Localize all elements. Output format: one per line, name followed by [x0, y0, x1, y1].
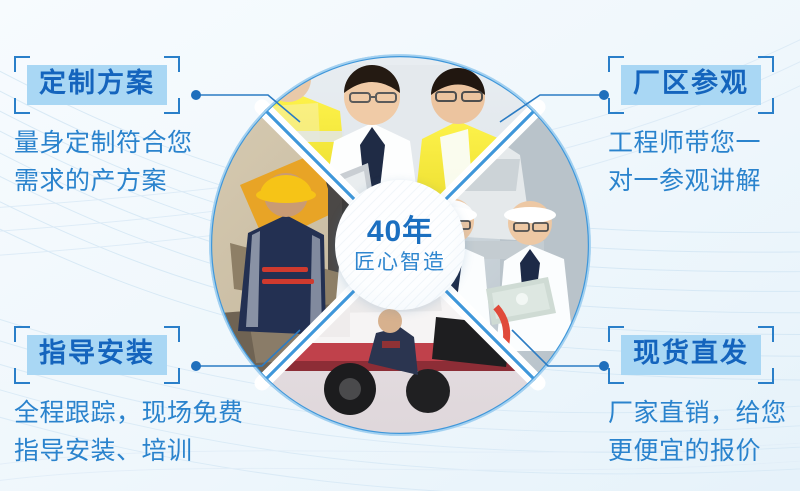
feature-title: 现货直发: [633, 338, 749, 368]
corner-bracket-icon: [608, 56, 624, 72]
corner-bracket-icon: [608, 368, 624, 384]
corner-bracket-icon: [14, 326, 30, 342]
feature-installation-guidance[interactable]: 指导安装 全程跟踪，现场免费 指导安装、培训: [14, 326, 244, 470]
feature-title: 定制方案: [39, 68, 155, 98]
corner-bracket-icon: [608, 98, 624, 114]
corner-bracket-icon: [164, 56, 180, 72]
feature-custom-solution[interactable]: 定制方案 量身定制符合您 需求的产方案: [14, 56, 193, 200]
feature-desc-line: 需求的产方案: [14, 162, 193, 200]
center-badge: 40年 匠心智造: [335, 180, 465, 310]
corner-bracket-icon: [164, 368, 180, 384]
corner-bracket-icon: [164, 98, 180, 114]
corner-bracket-icon: [758, 368, 774, 384]
corner-bracket-icon: [164, 326, 180, 342]
feature-title-frame: 现货直发: [608, 326, 774, 384]
feature-in-stock-shipping[interactable]: 现货直发 厂家直销，给您 更便宜的报价: [608, 326, 787, 470]
feature-desc-line: 指导安装、培训: [14, 432, 244, 470]
feature-description: 量身定制符合您 需求的产方案: [14, 124, 193, 200]
feature-title-frame: 定制方案: [14, 56, 180, 114]
feature-title-badge: 现货直发: [621, 335, 761, 375]
feature-description: 全程跟踪，现场免费 指导安装、培训: [14, 394, 244, 470]
feature-desc-line: 全程跟踪，现场免费: [14, 394, 244, 432]
feature-title-frame: 厂区参观: [608, 56, 774, 114]
corner-bracket-icon: [14, 56, 30, 72]
feature-desc-line: 量身定制符合您: [14, 124, 193, 162]
feature-title-badge: 指导安装: [27, 335, 167, 375]
feature-desc-line: 厂家直销，给您: [608, 394, 787, 432]
promo-banner: 40年 匠心智造 定制方案 量身定制符合您 需求的产方案 厂区参观: [0, 0, 800, 491]
feature-title: 厂区参观: [633, 68, 749, 98]
feature-title-badge: 定制方案: [27, 65, 167, 105]
corner-bracket-icon: [14, 98, 30, 114]
feature-desc-line: 更便宜的报价: [608, 432, 787, 470]
feature-title-badge: 厂区参观: [621, 65, 761, 105]
corner-bracket-icon: [608, 326, 624, 342]
feature-desc-line: 对一参观讲解: [608, 162, 774, 200]
feature-title-frame: 指导安装: [14, 326, 180, 384]
feature-title: 指导安装: [39, 338, 155, 368]
feature-desc-line: 工程师带您一: [608, 124, 774, 162]
corner-bracket-icon: [14, 368, 30, 384]
feature-description: 工程师带您一 对一参观讲解: [608, 124, 774, 200]
corner-bracket-icon: [758, 56, 774, 72]
corner-bracket-icon: [758, 98, 774, 114]
center-subline: 匠心智造: [354, 251, 446, 274]
feature-description: 厂家直销，给您 更便宜的报价: [608, 394, 787, 470]
center-headline: 40年: [367, 216, 433, 248]
feature-factory-tour[interactable]: 厂区参观 工程师带您一 对一参观讲解: [608, 56, 774, 200]
corner-bracket-icon: [758, 326, 774, 342]
